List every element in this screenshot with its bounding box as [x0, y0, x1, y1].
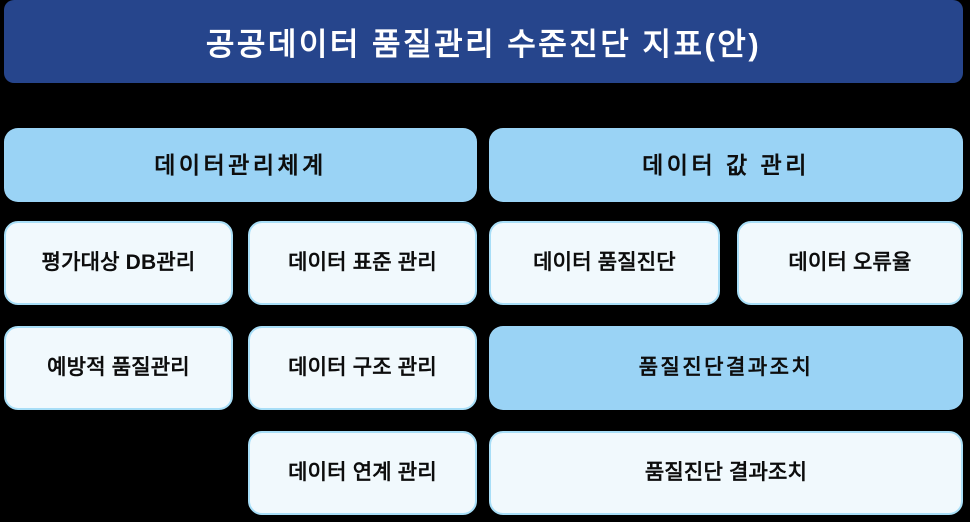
node-label: 데이터 표준 관리: [288, 251, 437, 275]
group-header-label: 데이터관리체계: [154, 152, 327, 178]
node-evaluation-target-db-management[interactable]: 평가대상 DB관리: [4, 221, 233, 305]
node-preventive-quality-management[interactable]: 예방적 품질관리: [4, 326, 233, 410]
node-label: 평가대상 DB관리: [42, 251, 196, 275]
group-header-data-management-system[interactable]: 데이터관리체계: [4, 128, 477, 202]
node-data-standard-management[interactable]: 데이터 표준 관리: [248, 221, 477, 305]
page-title: 공공데이터 품질관리 수준진단 지표(안): [206, 19, 761, 64]
node-label: 품질진단 결과조치: [645, 461, 807, 485]
node-data-error-rate[interactable]: 데이터 오류율: [737, 221, 963, 305]
group-header-label: 데이터 값 관리: [642, 152, 810, 178]
node-label: 데이터 오류율: [788, 251, 911, 275]
node-data-linkage-management[interactable]: 데이터 연계 관리: [248, 431, 477, 515]
node-data-quality-diagnosis[interactable]: 데이터 품질진단: [489, 221, 720, 305]
node-quality-diagnosis-result-action-filled[interactable]: 품질진단결과조치: [489, 326, 963, 410]
node-label: 데이터 품질진단: [533, 251, 676, 275]
node-label: 품질진단결과조치: [639, 356, 814, 380]
node-data-structure-management[interactable]: 데이터 구조 관리: [248, 326, 477, 410]
node-label: 데이터 연계 관리: [288, 461, 437, 485]
diagram-title-bar: 공공데이터 품질관리 수준진단 지표(안): [4, 0, 963, 83]
node-quality-diagnosis-result-action[interactable]: 품질진단 결과조치: [489, 431, 963, 515]
node-label: 데이터 구조 관리: [288, 356, 437, 380]
diagram-canvas: 공공데이터 품질관리 수준진단 지표(안) 데이터관리체계 데이터 값 관리 평…: [0, 0, 970, 522]
group-header-data-value-management[interactable]: 데이터 값 관리: [489, 128, 963, 202]
node-label: 예방적 품질관리: [47, 356, 190, 380]
